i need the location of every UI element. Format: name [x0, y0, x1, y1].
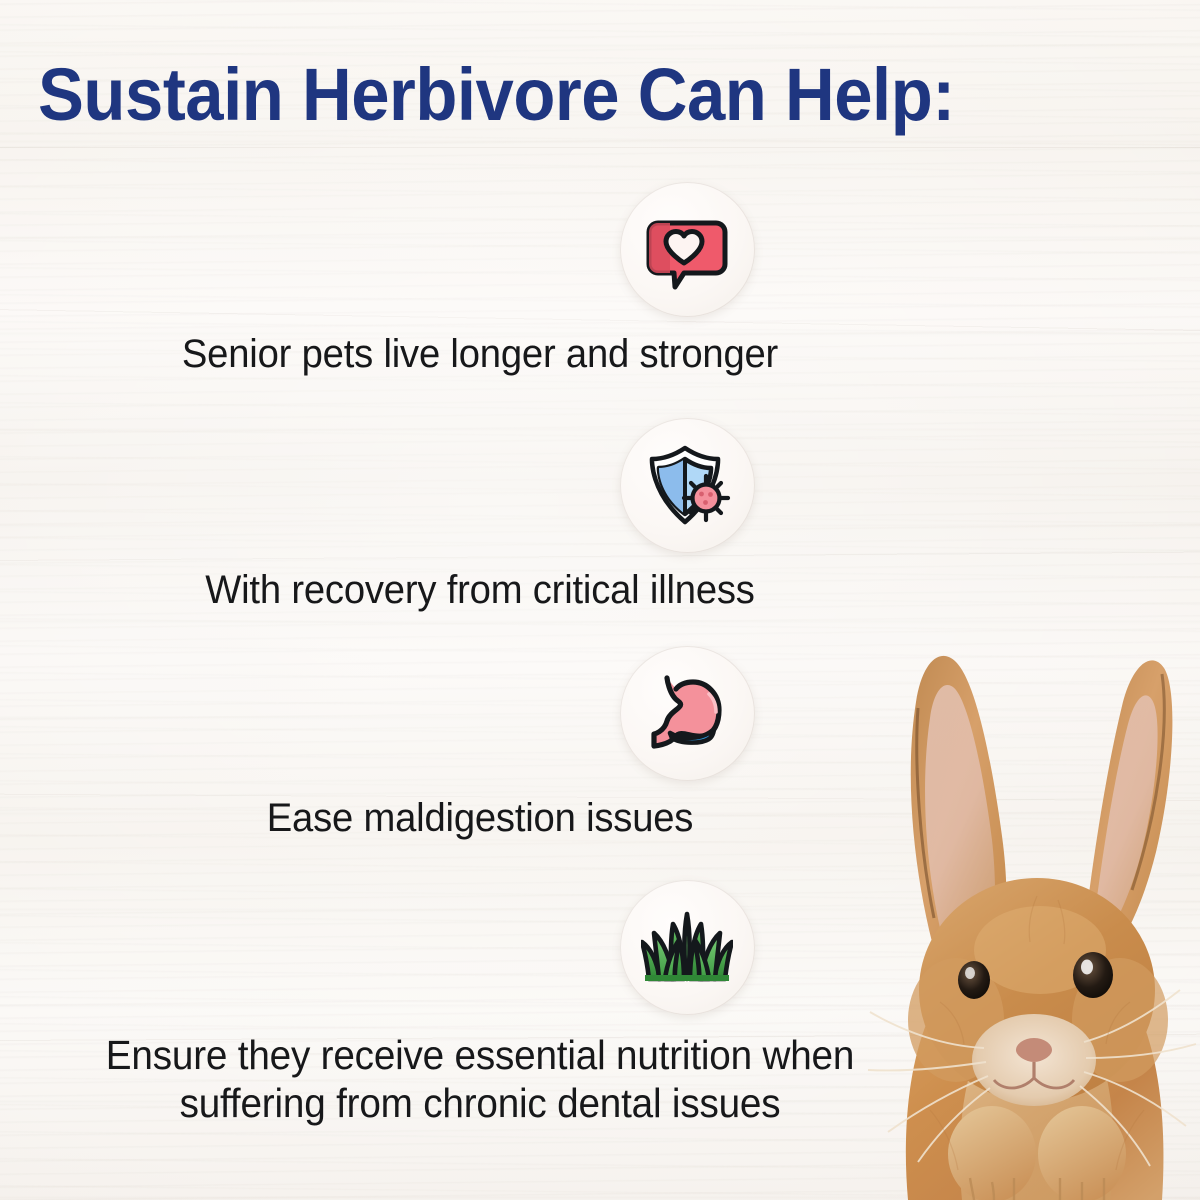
benefit-item-recovery: With recovery from critical illness [0, 418, 960, 614]
shield-virus-icon [643, 442, 731, 530]
benefit-icon-badge [620, 182, 755, 317]
germ-spikes [684, 476, 728, 520]
benefit-icon-badge [620, 880, 755, 1015]
benefit-label-line2: suffering from chronic dental issues [180, 1080, 781, 1126]
stomach-icon [645, 672, 729, 756]
heart-speech-bubble-icon [644, 207, 730, 293]
benefit-label: Ease maldigestion issues [22, 795, 939, 842]
benefit-item-nutrition: Ensure they receive essential nutrition … [0, 880, 960, 1127]
benefit-item-senior-pets: Senior pets live longer and stronger [0, 182, 960, 378]
poster-root: Sustain Herbivore Can Help: Senior pets … [0, 0, 1200, 1200]
benefit-item-maldigestion: Ease maldigestion issues [0, 646, 960, 842]
grass-icon [641, 909, 733, 987]
benefit-label: With recovery from critical illness [22, 567, 939, 614]
benefit-icon-badge [620, 418, 755, 553]
benefit-label: Senior pets live longer and stronger [22, 331, 939, 378]
benefit-label: Ensure they receive essential nutrition … [22, 1031, 939, 1127]
benefit-label-line1: Ensure they receive essential nutrition … [106, 1032, 854, 1078]
benefit-icon-badge [620, 646, 755, 781]
benefits-list: Senior pets live longer and stronger [0, 0, 960, 1200]
